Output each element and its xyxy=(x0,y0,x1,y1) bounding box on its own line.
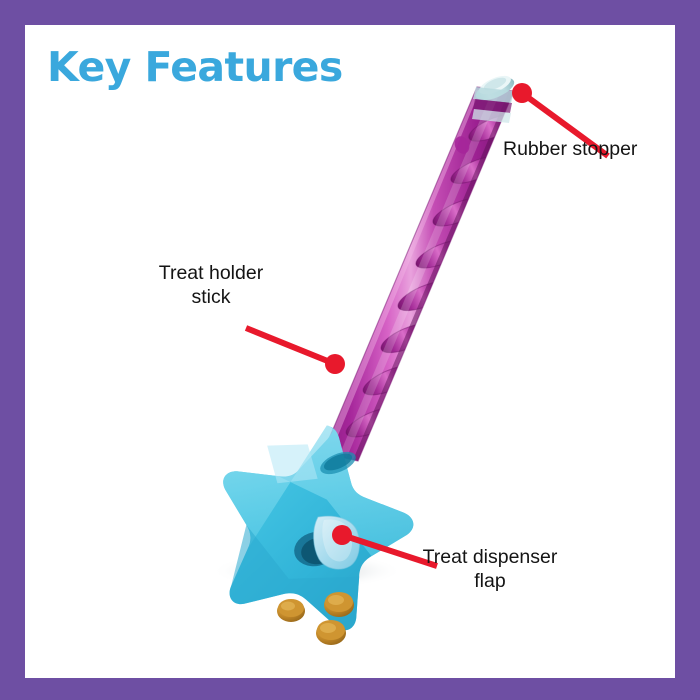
stick-ribs xyxy=(319,89,520,461)
treat-pellet xyxy=(324,592,354,617)
treat-pellet xyxy=(316,620,346,645)
infographic-page: Key Features xyxy=(0,0,700,700)
content-card: Key Features xyxy=(25,25,675,678)
rubber-stopper xyxy=(472,72,517,123)
leader-treat-holder-stick xyxy=(246,328,345,374)
treat-holder-stick xyxy=(319,87,520,461)
callout-label-treat-holder-stick: Treat holder stick xyxy=(111,261,311,309)
callout-label-rubber-stopper: Rubber stopper xyxy=(503,137,637,161)
treat-pellet xyxy=(277,599,305,622)
star-base xyxy=(195,404,432,640)
callout-label-treat-dispenser-flap: Treat dispenser flap xyxy=(380,545,600,593)
